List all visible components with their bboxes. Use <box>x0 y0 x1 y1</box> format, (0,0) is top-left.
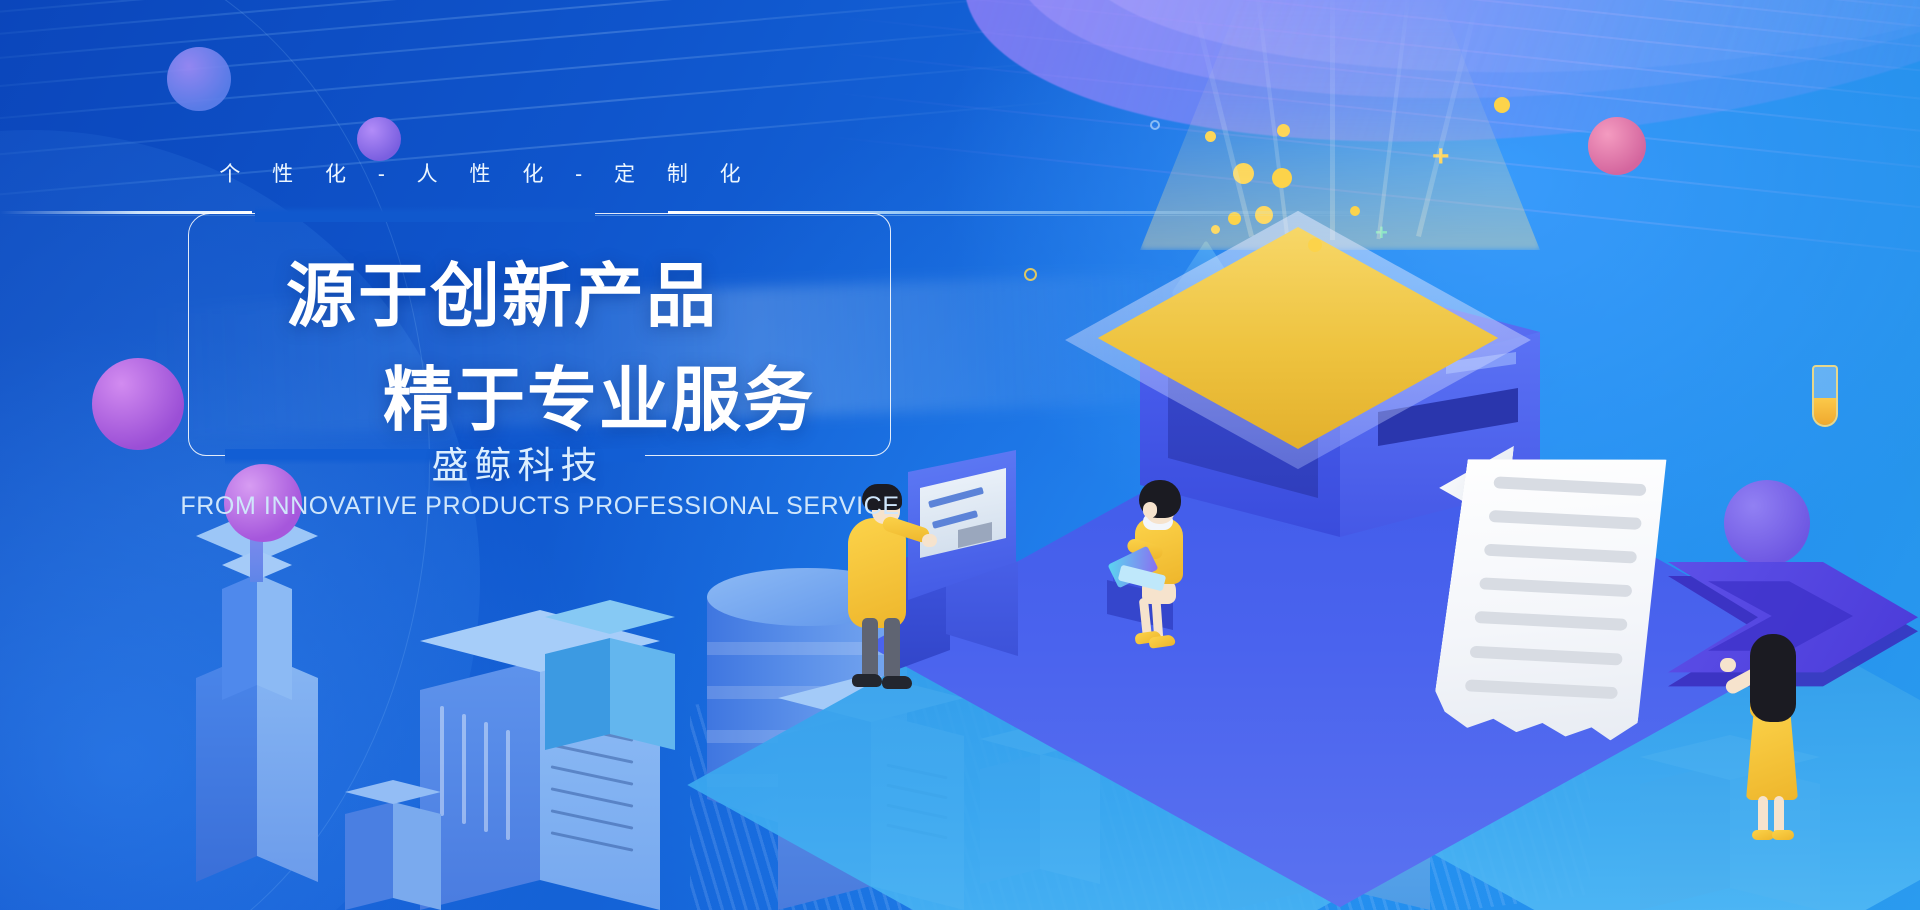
hero-banner: + + + <box>0 0 1920 910</box>
tagline: 个 性 化 - 人 性 化 - 定 制 化 <box>0 158 960 188</box>
gold-dot <box>1494 97 1510 113</box>
hair <box>1750 634 1796 722</box>
hand <box>1720 658 1736 672</box>
purple-wave-ribbon-3 <box>1063 0 1920 98</box>
frame-gap-top <box>255 206 595 222</box>
white-ring-icon <box>1150 120 1160 130</box>
headline-line-1: 源于创新产品 <box>286 240 718 341</box>
isometric-illustration-scene <box>1020 150 1920 850</box>
english-subtitle: FROM INNOVATIVE PRODUCTS PROFESSIONAL SE… <box>0 492 1080 521</box>
shoe <box>1752 830 1774 840</box>
company-name: 盛鲸科技 <box>0 435 1035 489</box>
shoe <box>1772 830 1794 840</box>
printed-paper-roll <box>1430 442 1674 742</box>
face <box>1143 502 1157 518</box>
standing-woman-receiving-paper <box>1720 628 1830 838</box>
shoe <box>1148 634 1175 649</box>
gold-dot <box>1272 168 1292 188</box>
gold-dot <box>1308 238 1322 252</box>
headline-line-2: 精于专业服务 <box>383 344 815 445</box>
seated-woman-with-laptop <box>1105 450 1225 650</box>
banner-text-block: 个 性 化 - 人 性 化 - 定 制 化 源于创新产品 精于专业服务 盛鲸科技… <box>0 0 960 910</box>
